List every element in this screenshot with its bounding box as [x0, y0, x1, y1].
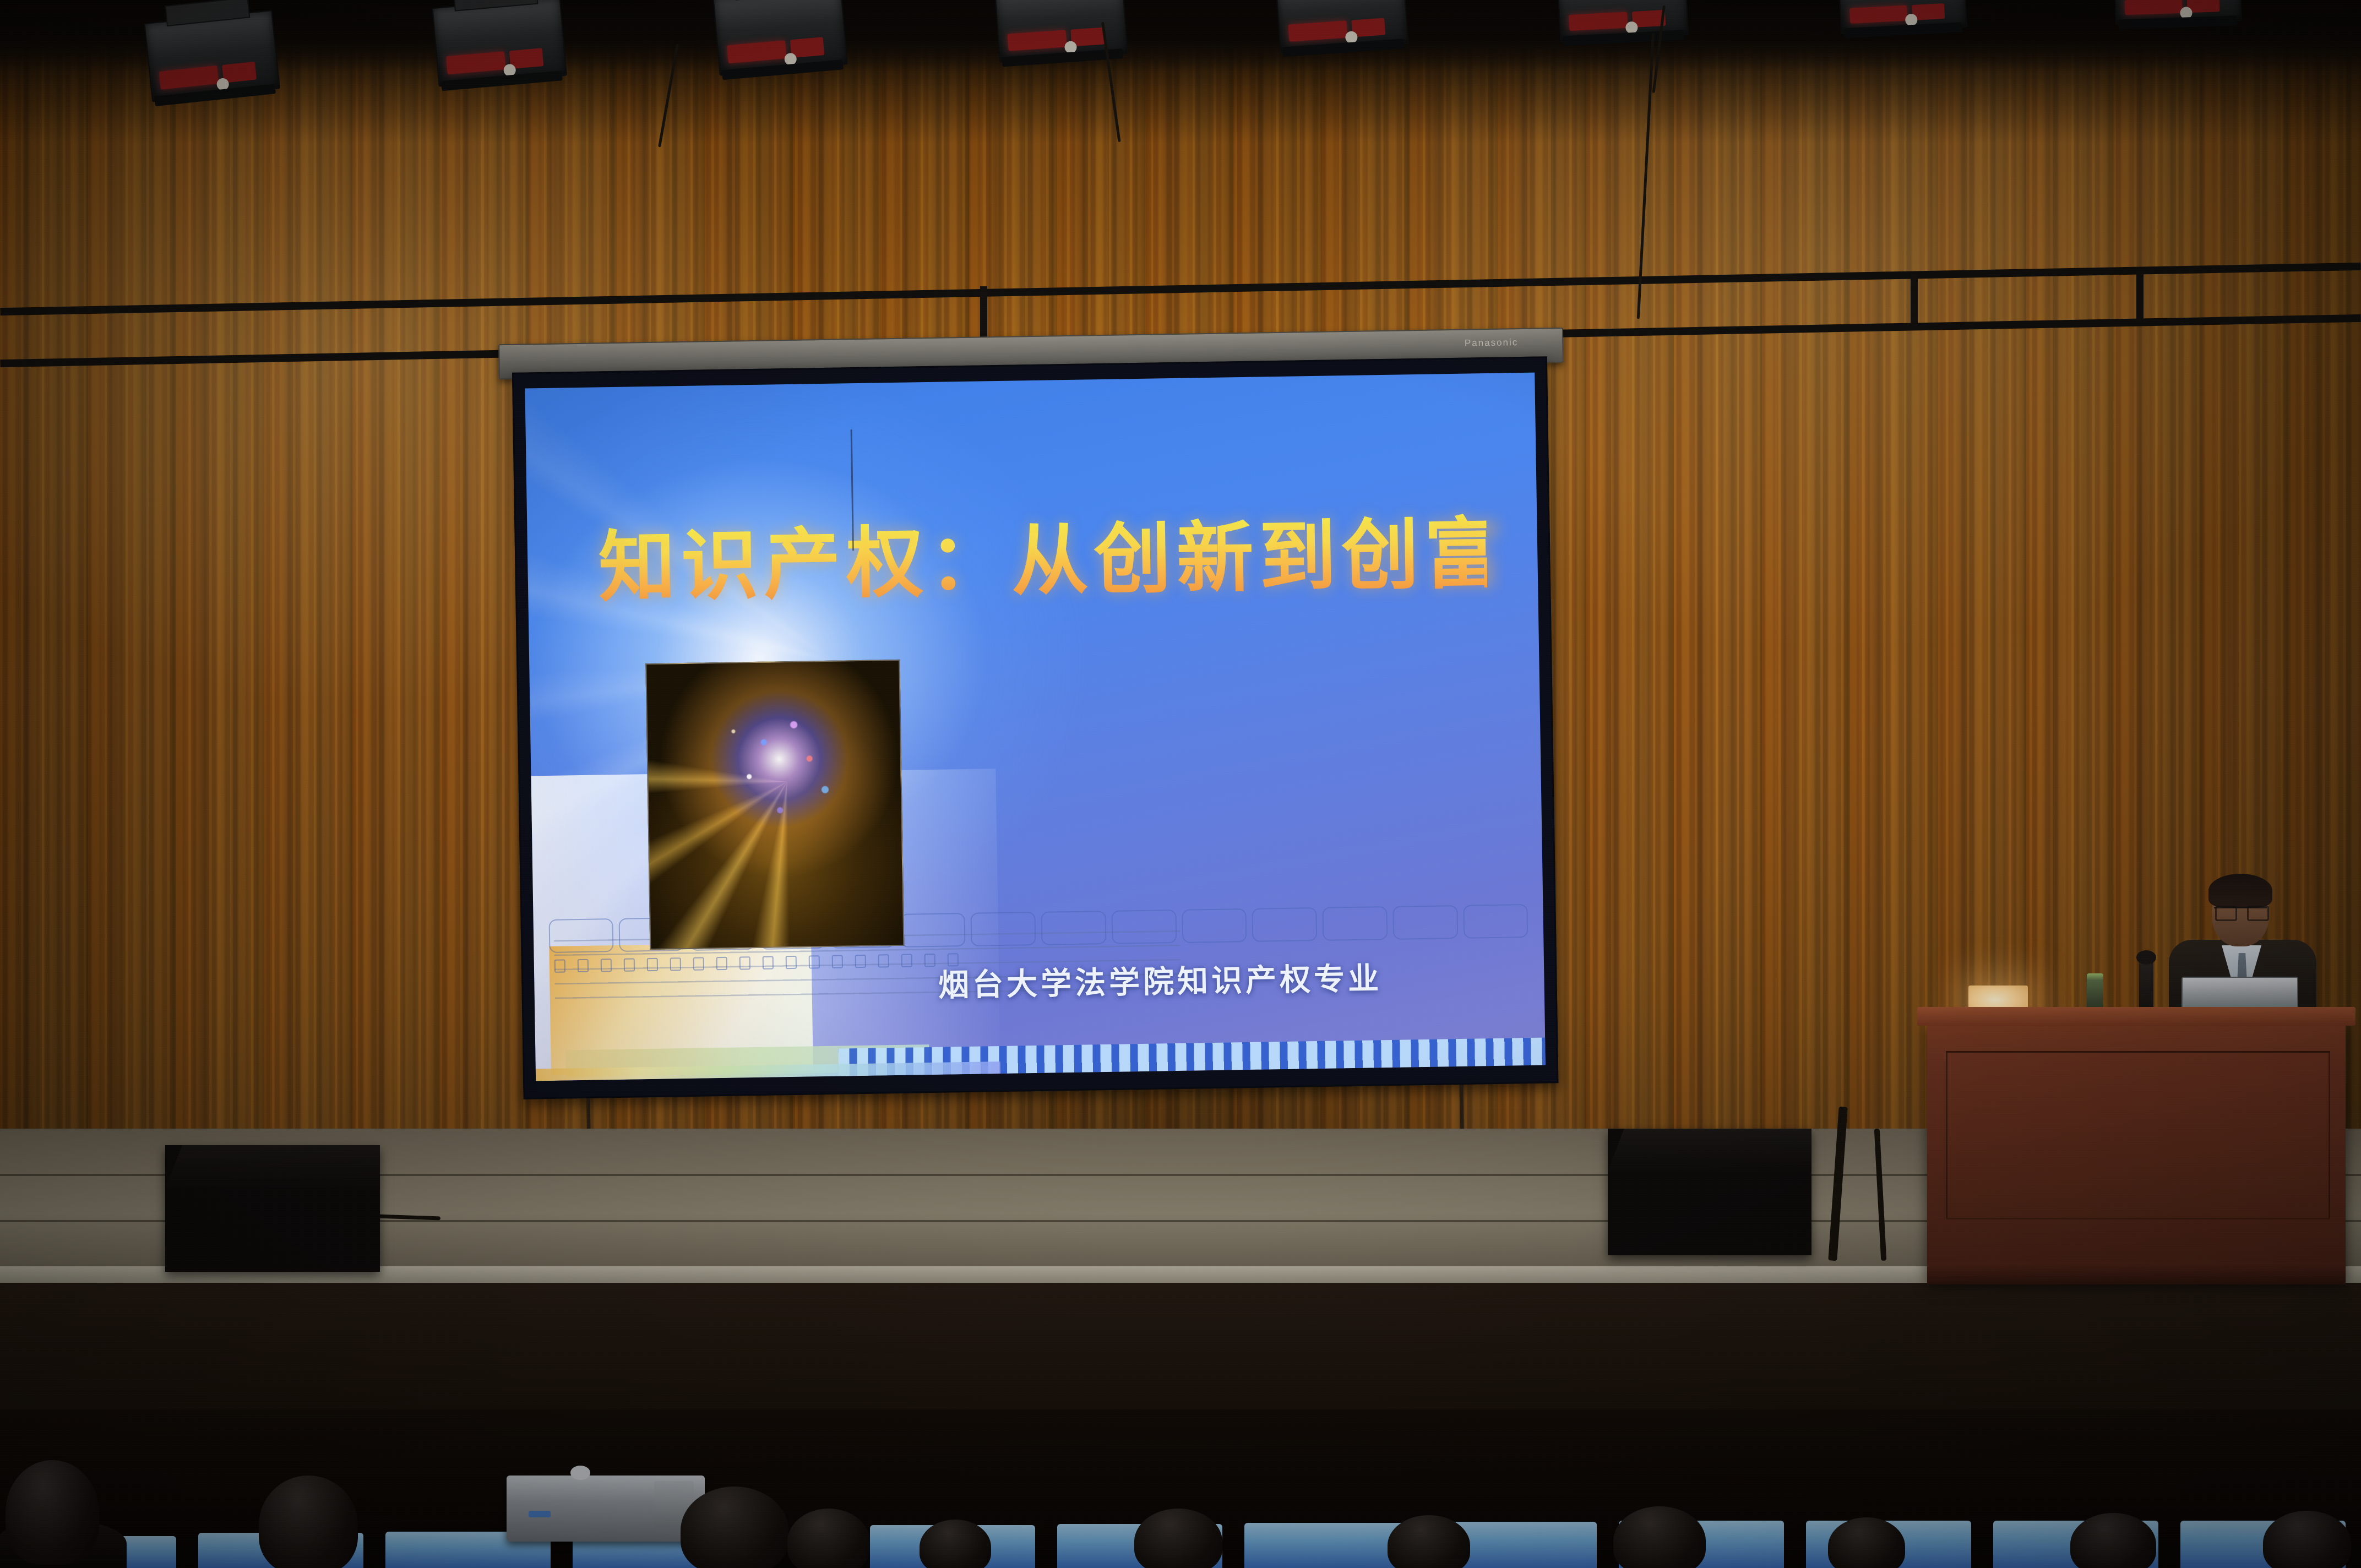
speaker-podium — [1927, 1021, 2346, 1280]
screen-brand-label: Panasonic — [1465, 337, 1519, 349]
podium-front-panel — [1946, 1051, 2330, 1219]
projection-screen: 知识产权：从创新到创富 — [512, 356, 1559, 1099]
truss-brace — [2136, 271, 2144, 322]
presenter-hair — [2208, 874, 2272, 908]
stage-light-fixture — [2113, 0, 2240, 23]
stage-light-fixture — [432, 0, 564, 85]
podium-top-surface — [1917, 1007, 2355, 1026]
stage-light-fixture — [1275, 0, 1406, 51]
stage-light-fixture — [1557, 0, 1687, 40]
slide-subtitle: 烟台大学法学院知识产权专业 — [938, 951, 1524, 1005]
presentation-slide: 知识产权：从创新到创富 — [525, 373, 1546, 1081]
stage-light-fixture — [712, 0, 845, 74]
slide-title: 知识产权：从创新到创富 — [598, 512, 1488, 611]
ceiling-shadow-soft — [0, 0, 2361, 143]
truss-brace — [980, 286, 987, 337]
projector-knob — [570, 1466, 590, 1480]
audience-head — [259, 1476, 358, 1568]
stage-monitor-speaker — [165, 1145, 380, 1272]
audience-head — [787, 1509, 870, 1568]
audience-seat — [1244, 1523, 1410, 1568]
brain-sparkles — [646, 661, 904, 949]
projector-status-led — [529, 1511, 551, 1517]
lecture-hall-scene: Panasonic 知识产权：从创新到创富 — [0, 0, 2361, 1568]
microphone-head — [2136, 950, 2156, 965]
glasses-bridge — [2214, 907, 2267, 917]
audience-head — [681, 1487, 788, 1568]
stage-light-fixture — [144, 10, 278, 100]
stage-light-fixture — [1837, 0, 1965, 32]
stage-monitor-speaker — [1608, 1129, 1811, 1255]
podium-base — [1927, 1262, 2346, 1284]
truss-brace — [1911, 274, 1918, 325]
projection-screen-unit: Panasonic 知识产权：从创新到创富 — [512, 328, 1559, 1114]
audience-head — [6, 1460, 99, 1565]
slide-brain-image — [645, 660, 905, 950]
audience-head — [1134, 1509, 1222, 1568]
